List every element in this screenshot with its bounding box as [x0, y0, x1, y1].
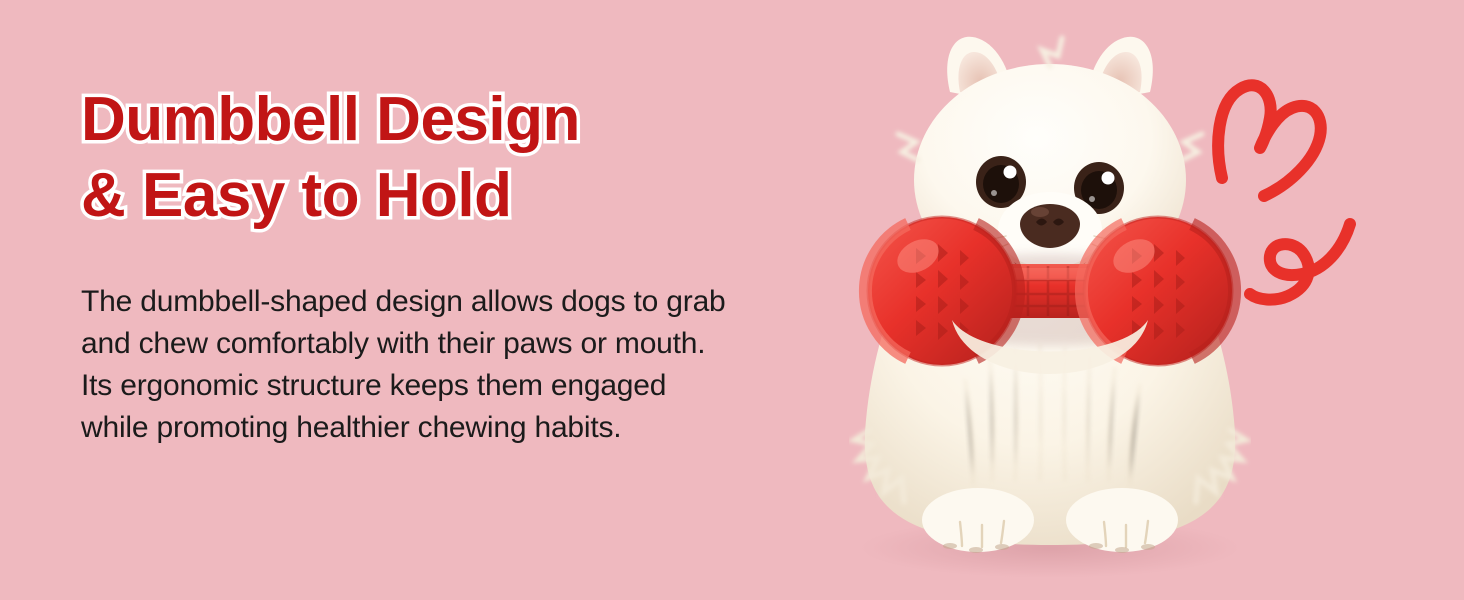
copy-block: Dumbbell Design & Easy to Hold The dumbb… [81, 82, 871, 449]
toy-ball-left [865, 217, 1018, 365]
description-text: The dumbbell-shaped design allows dogs t… [81, 235, 871, 449]
product-feature-banner: Dumbbell Design & Easy to Hold The dumbb… [0, 0, 1464, 600]
dog-with-toy-image [800, 0, 1300, 600]
page-title: Dumbbell Design & Easy to Hold [81, 82, 871, 235]
toy-ball-right [1081, 217, 1234, 365]
